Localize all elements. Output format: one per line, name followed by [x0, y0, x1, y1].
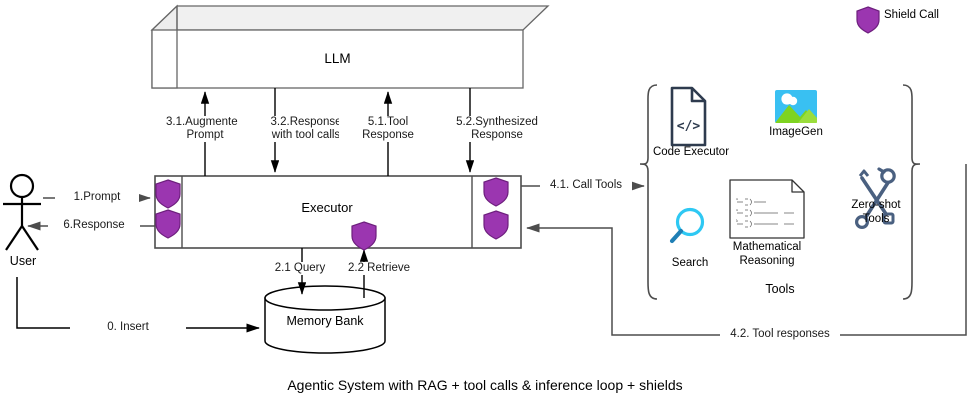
legend-label: Shield Call	[884, 9, 964, 21]
edge-label-tool-responses: 4.2. Tool responses	[720, 328, 840, 341]
edge-label-response: 6.Response	[48, 219, 140, 232]
tool-label-imagegen: ImageGen	[755, 126, 837, 138]
tool-label-search: Search	[660, 257, 720, 269]
edge-label-tool-response: 5.1.Tool Response	[339, 116, 437, 142]
tools-group-label: Tools	[720, 282, 840, 296]
executor-label: Executor	[182, 200, 472, 215]
diagram-caption: Agentic System with RAG + tool calls & i…	[0, 377, 970, 393]
svg-text:</>: </>	[677, 119, 701, 134]
tool-label-code-executor: Code Executor	[637, 146, 745, 158]
svg-text:a: a	[736, 208, 738, 212]
edge-label-retrieve: 2.2 Retrieve	[327, 262, 431, 275]
edge-label-prompt: 1.Prompt	[55, 191, 139, 204]
svg-text:a: a	[736, 197, 738, 201]
edge-label-synthesized-response: 5.2.Synthesized Response	[428, 116, 566, 142]
user-actor	[3, 175, 41, 250]
formula-document-icon: aab	[730, 180, 804, 238]
tool-label-mathematical-reasoning: Mathematical Reasoning	[720, 240, 814, 268]
edge-label-insert: 0. Insert	[70, 321, 186, 334]
code-document-icon: </>	[672, 88, 705, 145]
shield-icon-legend	[857, 7, 879, 33]
llm-label: LLM	[152, 51, 523, 66]
tool-label-zero-shot-tools: Zero-shot Tools	[841, 198, 911, 226]
llm-node	[152, 6, 548, 88]
memory-bank-label: Memory Bank	[265, 314, 385, 328]
edge-label-call-tools: 4.1. Call Tools	[540, 179, 632, 192]
user-label: User	[0, 254, 46, 268]
svg-text:b: b	[736, 219, 738, 223]
image-picture-icon	[775, 90, 817, 123]
magnifier-icon	[672, 210, 703, 242]
